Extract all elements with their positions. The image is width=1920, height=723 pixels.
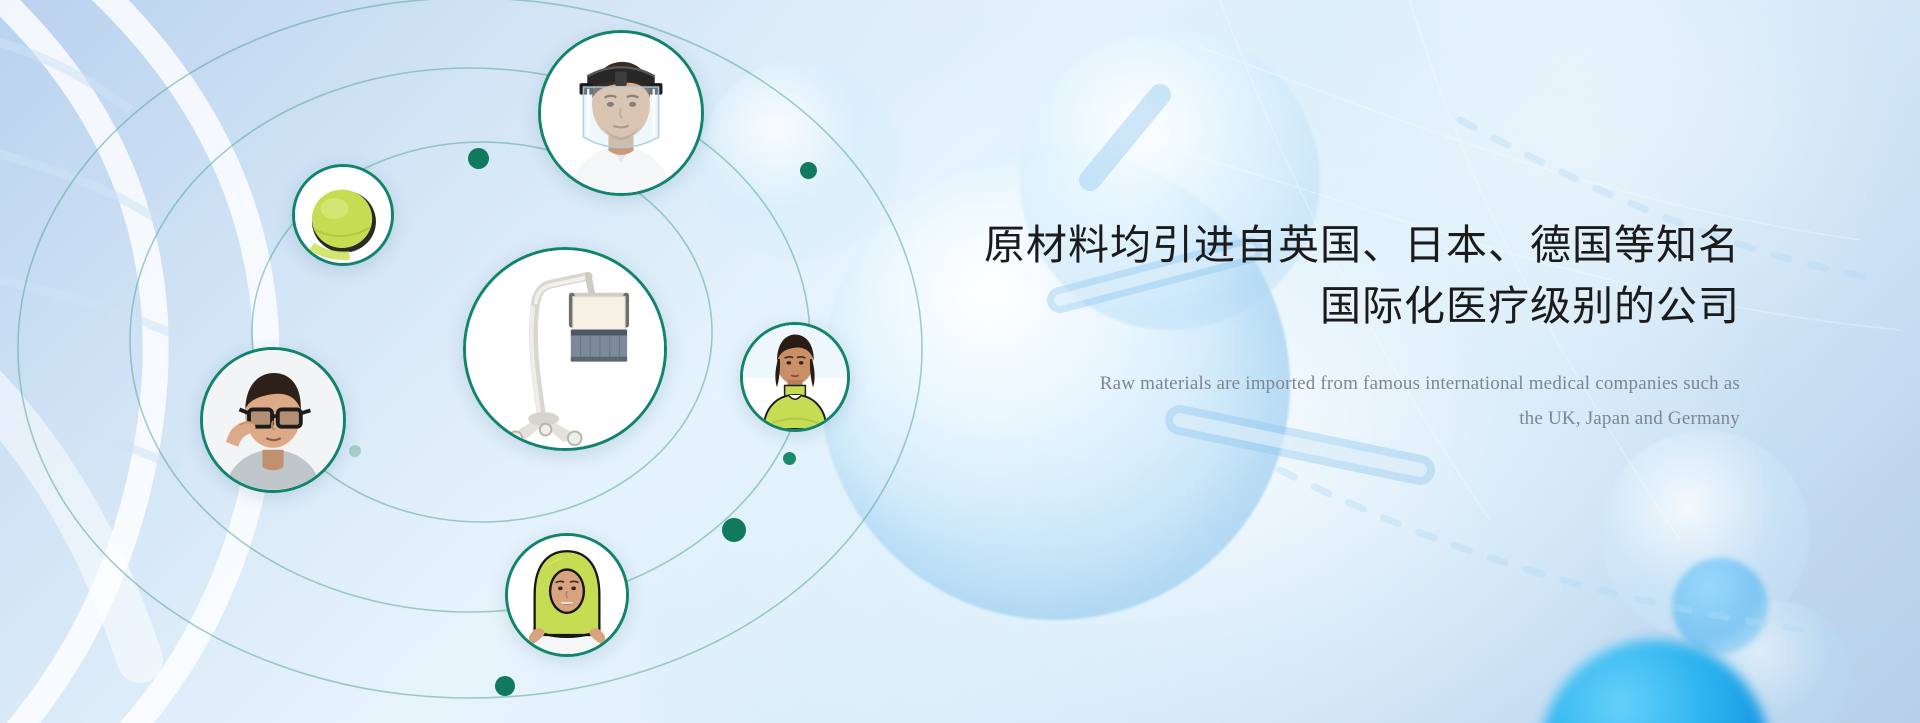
photo-bubble-mobile-x-ray-shield[interactable] xyxy=(463,247,667,451)
man-wearing-face-shield-icon xyxy=(541,33,701,193)
molecule-sphere-small-2-icon xyxy=(1600,430,1810,640)
man-wearing-lead-glasses-icon xyxy=(203,350,343,490)
banner-headline: 原材料均引进自英国、日本、德国等知名 国际化医疗级别的公司 xyxy=(980,215,1740,336)
accent-dot-2 xyxy=(800,162,817,179)
subheadline-line-2: the UK, Japan and Germany xyxy=(980,401,1740,436)
banner-copy-block: 原材料均引进自英国、日本、德国等知名 国际化医疗级别的公司 Raw materi… xyxy=(980,215,1740,437)
accent-dot-4 xyxy=(783,452,796,465)
banner-subheadline: Raw materials are imported from famous i… xyxy=(980,366,1740,436)
molecule-sphere-small-3-icon xyxy=(1700,600,1850,723)
accent-dot-1 xyxy=(468,148,489,169)
blue-sphere-small-icon xyxy=(1672,558,1768,654)
accent-dot-5 xyxy=(495,676,515,696)
headline-line-2: 国际化医疗级别的公司 xyxy=(980,276,1740,337)
blue-sphere-icon xyxy=(1540,640,1770,723)
photo-bubble-protective-cap[interactable] xyxy=(292,164,394,266)
radiation-protective-cap-icon xyxy=(295,167,391,263)
headline-line-1: 原材料均引进自英国、日本、德国等知名 xyxy=(984,222,1740,268)
photo-bubble-lead-glasses[interactable] xyxy=(200,347,346,493)
woman-wearing-thyroid-collar-icon xyxy=(743,325,847,429)
hero-banner: 原材料均引进自英国、日本、德国等知名 国际化医疗级别的公司 Raw materi… xyxy=(0,0,1920,723)
subheadline-line-1: Raw materials are imported from famous i… xyxy=(980,366,1740,401)
accent-dot-6 xyxy=(349,445,361,457)
photo-bubble-thyroid-collar[interactable] xyxy=(740,322,850,432)
woman-wearing-radiation-hood-icon xyxy=(508,536,626,654)
photo-bubble-protective-hood[interactable] xyxy=(505,533,629,657)
accent-dot-3 xyxy=(722,518,746,542)
photo-bubble-face-shield[interactable] xyxy=(538,30,704,196)
mobile-x-ray-protection-screen-icon xyxy=(466,250,664,448)
